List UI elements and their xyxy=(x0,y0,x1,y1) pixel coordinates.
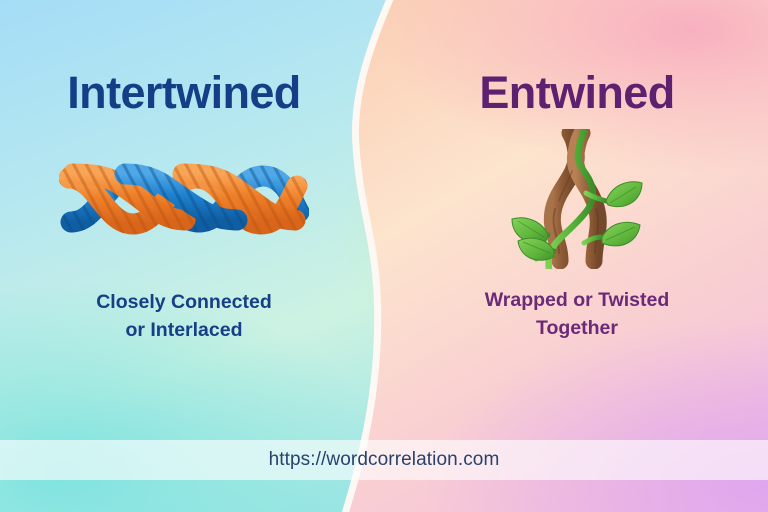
left-panel: Intertwined xyxy=(0,0,368,512)
left-word-title: Intertwined xyxy=(67,70,300,115)
left-caption: Closely Connected or Interlaced xyxy=(96,289,272,344)
right-panel: Entwined xyxy=(386,0,768,512)
braided-ropes-illustration xyxy=(59,137,309,263)
url-strip: https://wordcorrelation.com xyxy=(0,440,768,480)
right-caption: Wrapped or Twisted Together xyxy=(485,287,670,342)
right-word-title: Entwined xyxy=(479,70,674,115)
comparison-graphic: Intertwined xyxy=(0,0,768,512)
twisted-vine-tree-illustration xyxy=(502,129,652,269)
website-url[interactable]: https://wordcorrelation.com xyxy=(269,449,500,471)
